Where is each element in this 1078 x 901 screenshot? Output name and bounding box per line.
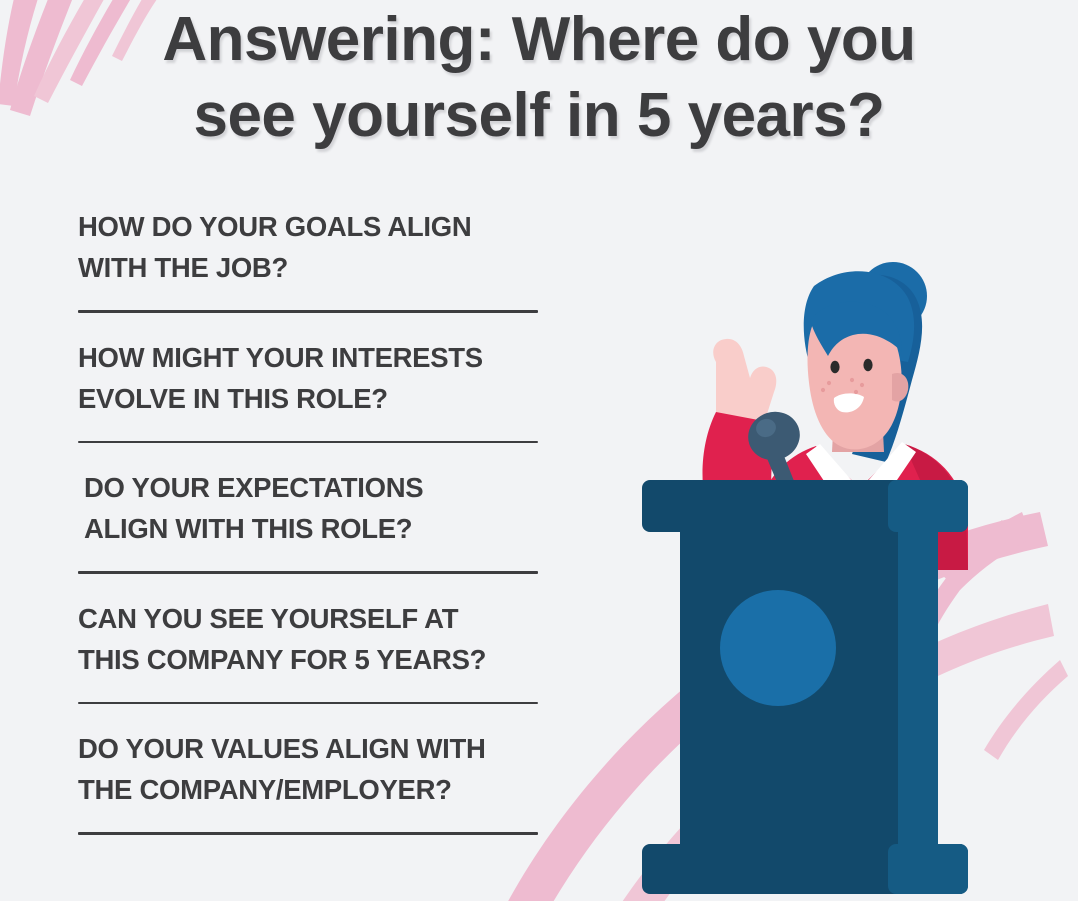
question-item-1: HOW DO YOUR GOALS ALIGN WITH THE JOB?	[78, 206, 548, 288]
poster-root: Answering: Where do you see yourself in …	[0, 0, 1078, 901]
question-item-2: HOW MIGHT YOUR INTERESTS EVOLVE IN THIS …	[78, 337, 548, 419]
question-item-5: DO YOUR VALUES ALIGN WITH THE COMPANY/EM…	[78, 728, 548, 810]
eye-right-icon	[863, 359, 872, 371]
page-title: Answering: Where do you see yourself in …	[0, 2, 1078, 154]
question-item-3: DO YOUR EXPECTATIONS ALIGN WITH THIS ROL…	[78, 467, 548, 549]
podium-group	[642, 480, 968, 894]
title-line-1: Answering: Where do you	[0, 2, 1078, 78]
question-list: HOW DO YOUR GOALS ALIGN WITH THE JOB? HO…	[78, 206, 548, 835]
podium-body-side	[898, 532, 938, 844]
question-divider-5	[78, 832, 538, 835]
title-line-2: see yourself in 5 years?	[0, 78, 1078, 154]
podium-bottom-cap-side	[888, 844, 968, 894]
eye-left-icon	[830, 361, 839, 373]
podium-emblem-circle	[720, 590, 836, 706]
podium-top-cap-side	[888, 480, 968, 532]
question-item-4: CAN YOU SEE YOURSELF AT THIS COMPANY FOR…	[78, 598, 548, 680]
illustration-woman-at-podium	[620, 240, 1040, 901]
